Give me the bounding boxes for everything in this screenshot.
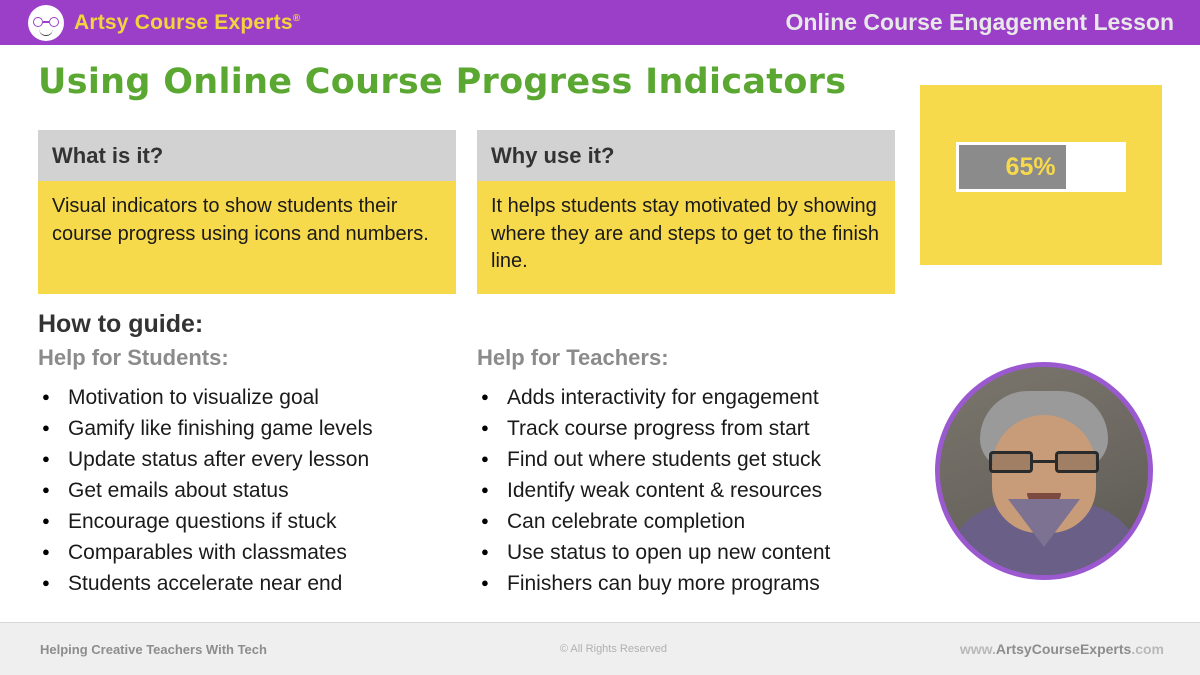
card-heading: What is it? [38, 130, 456, 181]
avatar-glasses-icon [989, 451, 1099, 473]
list-item: Track course progress from start [477, 413, 927, 444]
list-item: Find out where students get stuck [477, 444, 927, 475]
list-item: Update status after every lesson [38, 444, 468, 475]
list-item: Finishers can buy more programs [477, 568, 927, 599]
smile-icon [39, 29, 53, 36]
footer-tagline: Helping Creative Teachers With Tech [0, 642, 267, 657]
progress-bar: 65% [956, 142, 1126, 192]
footer-copyright: © All Rights Reserved [560, 643, 667, 655]
card-body: It helps students stay motivated by show… [477, 181, 895, 294]
list-item: Motivation to visualize goal [38, 382, 468, 413]
footer: Helping Creative Teachers With Tech © Al… [0, 622, 1200, 675]
list-item: Use status to open up new content [477, 537, 927, 568]
glasses-icon [33, 17, 59, 28]
list-item: Gamify like finishing game levels [38, 413, 468, 444]
brand: Artsy Course Experts® [0, 5, 300, 41]
students-list: Motivation to visualize goalGamify like … [38, 382, 468, 600]
card-heading: Why use it? [477, 130, 895, 181]
brand-trademark: ® [293, 13, 301, 24]
list-item: Adds interactivity for engagement [477, 382, 927, 413]
teachers-column-heading: Help for Teachers: [477, 345, 669, 371]
lesson-title: Online Course Engagement Lesson [785, 9, 1200, 36]
brand-logo-icon [28, 5, 64, 41]
howto-heading: How to guide: [38, 310, 203, 339]
list-item: Students accelerate near end [38, 568, 468, 599]
card-body: Visual indicators to show students their… [38, 181, 456, 294]
list-item: Identify weak content & resources [477, 475, 927, 506]
brand-name-text: Artsy Course Experts [74, 11, 293, 34]
footer-website-main: ArtsyCourseExperts [996, 641, 1131, 657]
footer-website: www.ArtsyCourseExperts.com [960, 641, 1200, 657]
card-what-is-it: What is it? Visual indicators to show st… [38, 130, 456, 294]
page-title: Using Online Course Progress Indicators [38, 62, 846, 102]
footer-website-prefix: www. [960, 641, 996, 657]
top-bar: Artsy Course Experts® Online Course Enga… [0, 0, 1200, 45]
list-item: Can celebrate completion [477, 506, 927, 537]
progress-percent-label: 65% [1006, 153, 1056, 182]
list-item: Comparables with classmates [38, 537, 468, 568]
list-item: Get emails about status [38, 475, 468, 506]
students-column-heading: Help for Students: [38, 345, 229, 371]
list-item: Encourage questions if stuck [38, 506, 468, 537]
progress-bar-fill: 65% [959, 145, 1066, 189]
progress-indicator-panel: 65% [920, 85, 1162, 265]
teachers-list: Adds interactivity for engagementTrack c… [477, 382, 927, 600]
brand-name: Artsy Course Experts® [74, 11, 300, 35]
avatar [935, 362, 1153, 580]
footer-website-suffix: .com [1131, 641, 1164, 657]
card-why-use-it: Why use it? It helps students stay motiv… [477, 130, 895, 294]
